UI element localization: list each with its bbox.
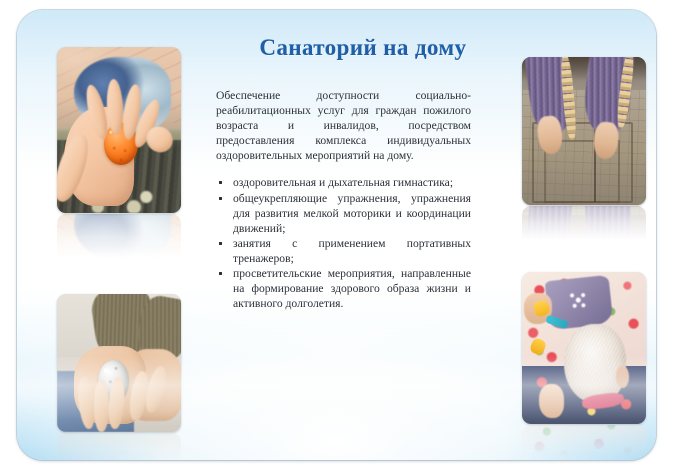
photo-reflection — [57, 433, 181, 460]
intro-paragraph: Обеспечение доступности социально-реабил… — [216, 88, 471, 163]
photo-layer-hand — [539, 384, 564, 417]
page-title: Санаторий на дому — [213, 35, 513, 61]
list-item: общеукрепляющие упражнения, упражнения д… — [216, 191, 471, 236]
slide-canvas: Санаторий на дому — [0, 0, 673, 475]
photo-reflection — [522, 206, 646, 248]
services-bullet-list: оздоровительная и дыхательная гимнастика… — [216, 175, 471, 311]
slide-panel: Санаторий на дому — [17, 10, 656, 460]
list-item: занятия с применением портативных тренаж… — [216, 236, 471, 266]
photo-knit-sleeves-floor-exercise — [522, 57, 646, 205]
photo-layer-ear — [616, 366, 628, 387]
photo-frame — [57, 47, 181, 213]
photo-frame — [57, 294, 181, 432]
photo-frame — [522, 57, 646, 205]
photo-reflection — [57, 214, 181, 270]
photo-hands-orange-massage-ball — [57, 47, 181, 213]
photo-elderly-person-floral-bedding — [522, 272, 646, 424]
photo-layer-white-hair-head — [564, 324, 626, 403]
photo-frame — [522, 272, 646, 424]
photo-hands-silver-massage-ball — [57, 294, 181, 432]
photo-layer-finger — [94, 380, 109, 432]
content-text-column: Обеспечение доступности социально-реабил… — [216, 88, 471, 311]
photo-reflection — [522, 425, 646, 460]
list-item: просветительские мероприятия, направленн… — [216, 266, 471, 311]
list-item: оздоровительная и дыхательная гимнастика… — [216, 175, 471, 190]
